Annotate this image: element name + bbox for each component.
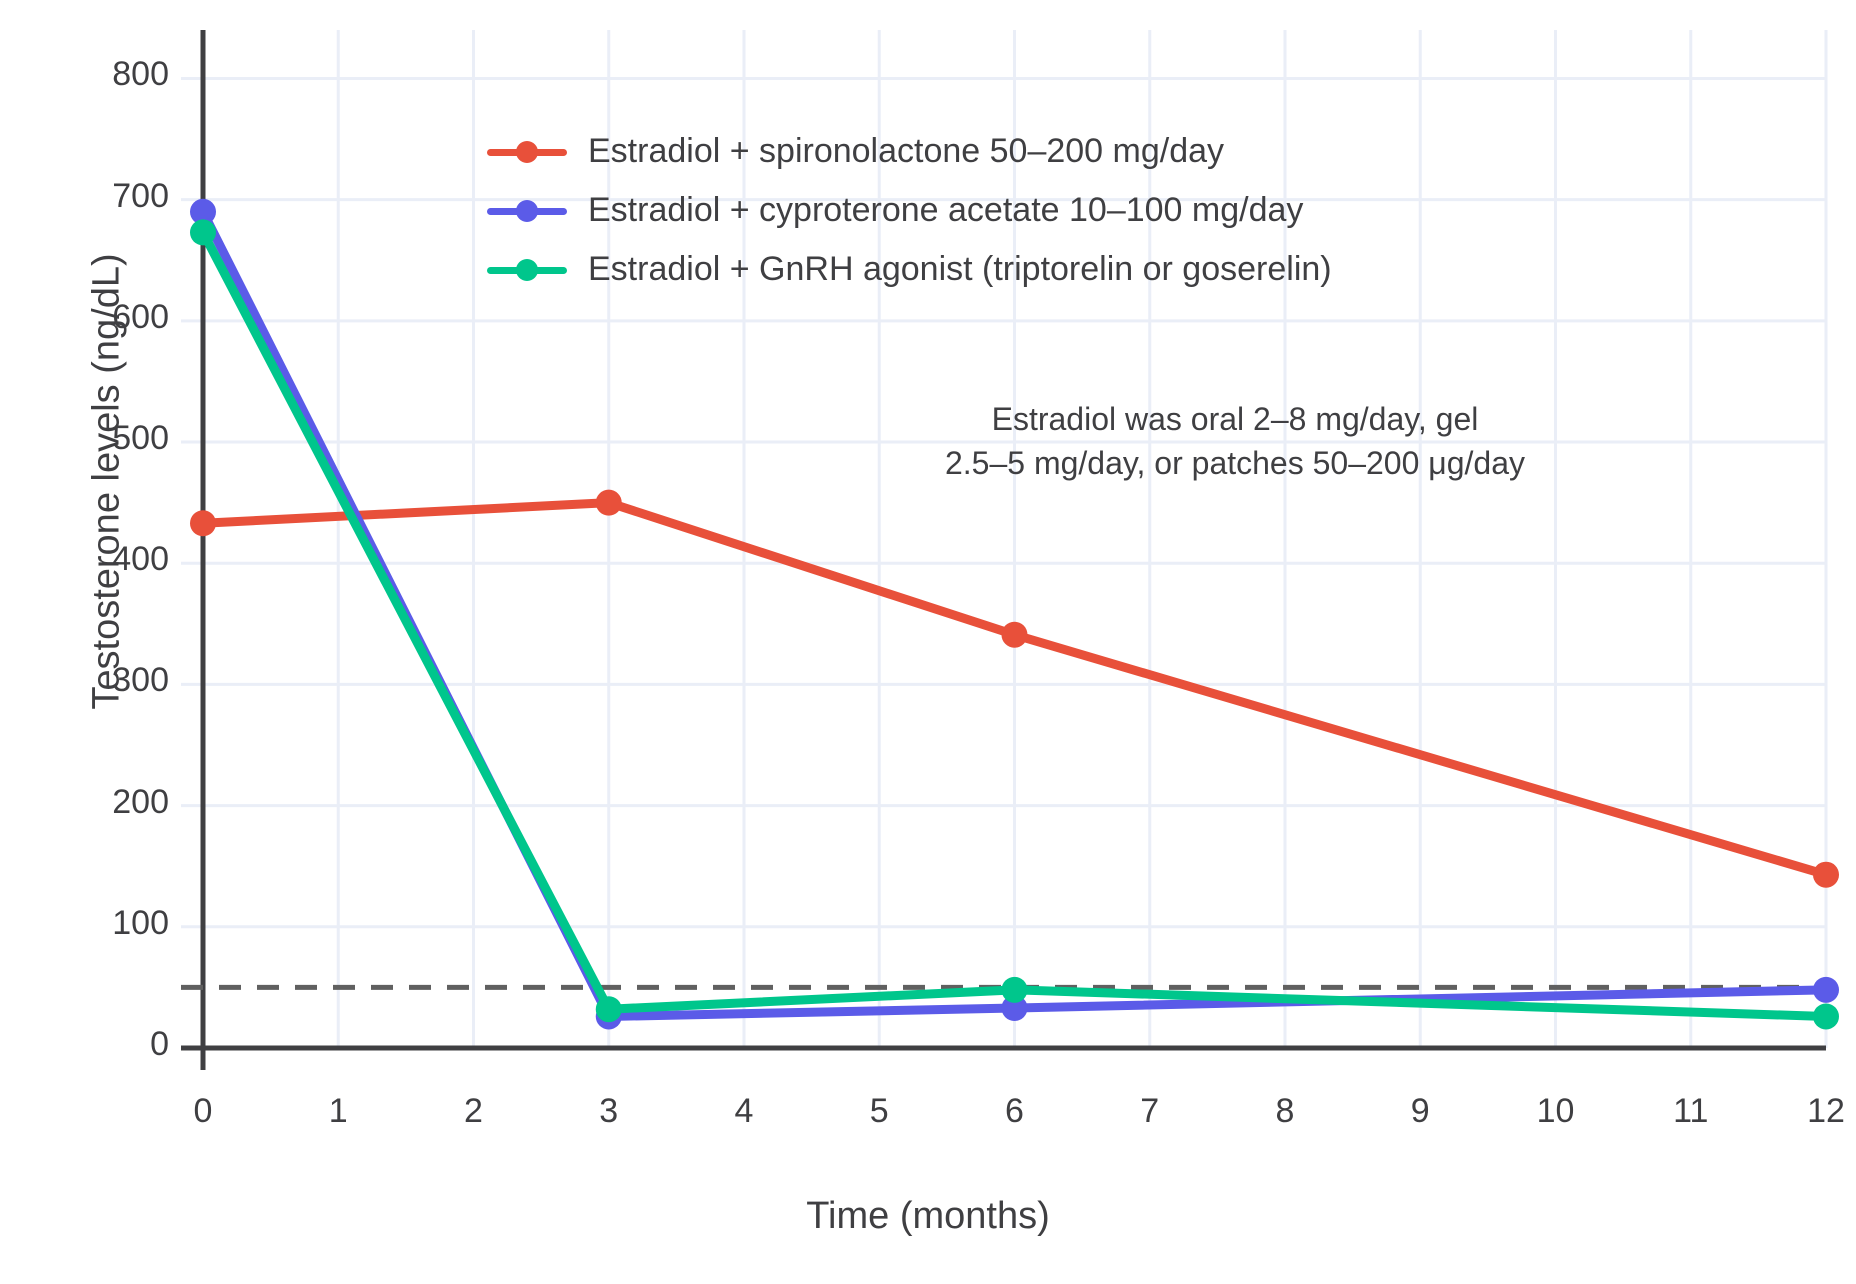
x-axis-title: Time (months) [0,1195,1856,1238]
data-point [1002,622,1028,648]
y-tick-label: 0 [49,1025,169,1064]
data-point [596,490,622,516]
x-tick-label: 1 [278,1092,398,1131]
y-tick-label: 500 [49,419,169,458]
x-tick-label: 12 [1766,1092,1856,1131]
x-tick-label: 4 [684,1092,804,1131]
legend-item-gnrh[interactable]: Estradiol + GnRH agonist (triptorelin or… [487,240,1332,299]
legend-swatch-cyproterone [487,193,567,229]
legend-label-cyproterone: Estradiol + cyproterone acetate 10–100 m… [588,191,1303,230]
y-tick-label: 600 [49,298,169,337]
y-tick-label: 700 [49,177,169,216]
y-tick-label: 100 [49,904,169,943]
estradiol-dose-note-line2: 2.5–5 mg/day, or patches 50–200 μg/day [905,441,1565,485]
y-tick-label: 400 [49,540,169,579]
legend-item-spironolactone[interactable]: Estradiol + spironolactone 50–200 mg/day [487,122,1332,181]
y-tick-label: 200 [49,783,169,822]
legend: Estradiol + spironolactone 50–200 mg/day… [487,122,1332,299]
legend-item-cyproterone[interactable]: Estradiol + cyproterone acetate 10–100 m… [487,181,1332,240]
x-tick-label: 8 [1225,1092,1345,1131]
estradiol-dose-note-line1: Estradiol was oral 2–8 mg/day, gel [905,397,1565,441]
y-axis-title: Testosterone levels (ng/dL) [86,132,129,832]
legend-swatch-gnrh [487,252,567,288]
estradiol-dose-note: Estradiol was oral 2–8 mg/day, gel 2.5–5… [905,397,1565,485]
legend-label-gnrh: Estradiol + GnRH agonist (triptorelin or… [588,250,1332,289]
data-point [1002,977,1028,1003]
y-tick-label: 800 [49,55,169,94]
data-point [596,996,622,1022]
x-tick-label: 7 [1090,1092,1210,1131]
x-tick-label: 11 [1631,1092,1751,1131]
x-tick-label: 3 [549,1092,669,1131]
data-point [1813,977,1839,1003]
x-tick-label: 2 [414,1092,534,1131]
x-tick-label: 5 [819,1092,939,1131]
x-tick-label: 0 [143,1092,263,1131]
data-point [1813,1003,1839,1029]
x-tick-label: 10 [1496,1092,1616,1131]
legend-swatch-spironolactone [487,134,567,170]
data-point [1813,862,1839,888]
x-tick-label: 9 [1360,1092,1480,1131]
data-point [190,510,216,536]
x-tick-label: 6 [955,1092,1075,1131]
legend-label-spironolactone: Estradiol + spironolactone 50–200 mg/day [588,132,1224,171]
data-point [190,219,216,245]
chart-figure: Testosterone levels (ng/dL) Time (months… [0,0,1856,1284]
y-tick-label: 300 [49,661,169,700]
